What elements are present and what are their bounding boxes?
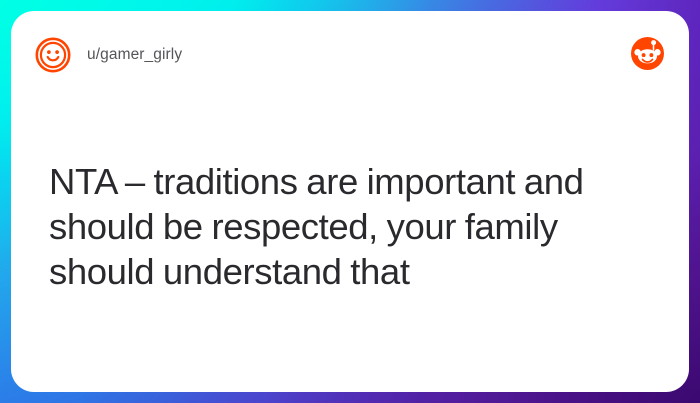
reddit-post-card: u/gamer_girly xyxy=(11,11,689,392)
smiley-face-avatar-icon[interactable] xyxy=(34,36,72,74)
post-author-username[interactable]: u/gamer_girly xyxy=(87,46,182,64)
reddit-snoo-icon[interactable] xyxy=(631,37,664,70)
screenshot-root: u/gamer_girly xyxy=(0,0,700,403)
post-header: u/gamer_girly xyxy=(34,34,666,76)
post-body-text: NTA – traditions are important and shoul… xyxy=(49,159,629,294)
